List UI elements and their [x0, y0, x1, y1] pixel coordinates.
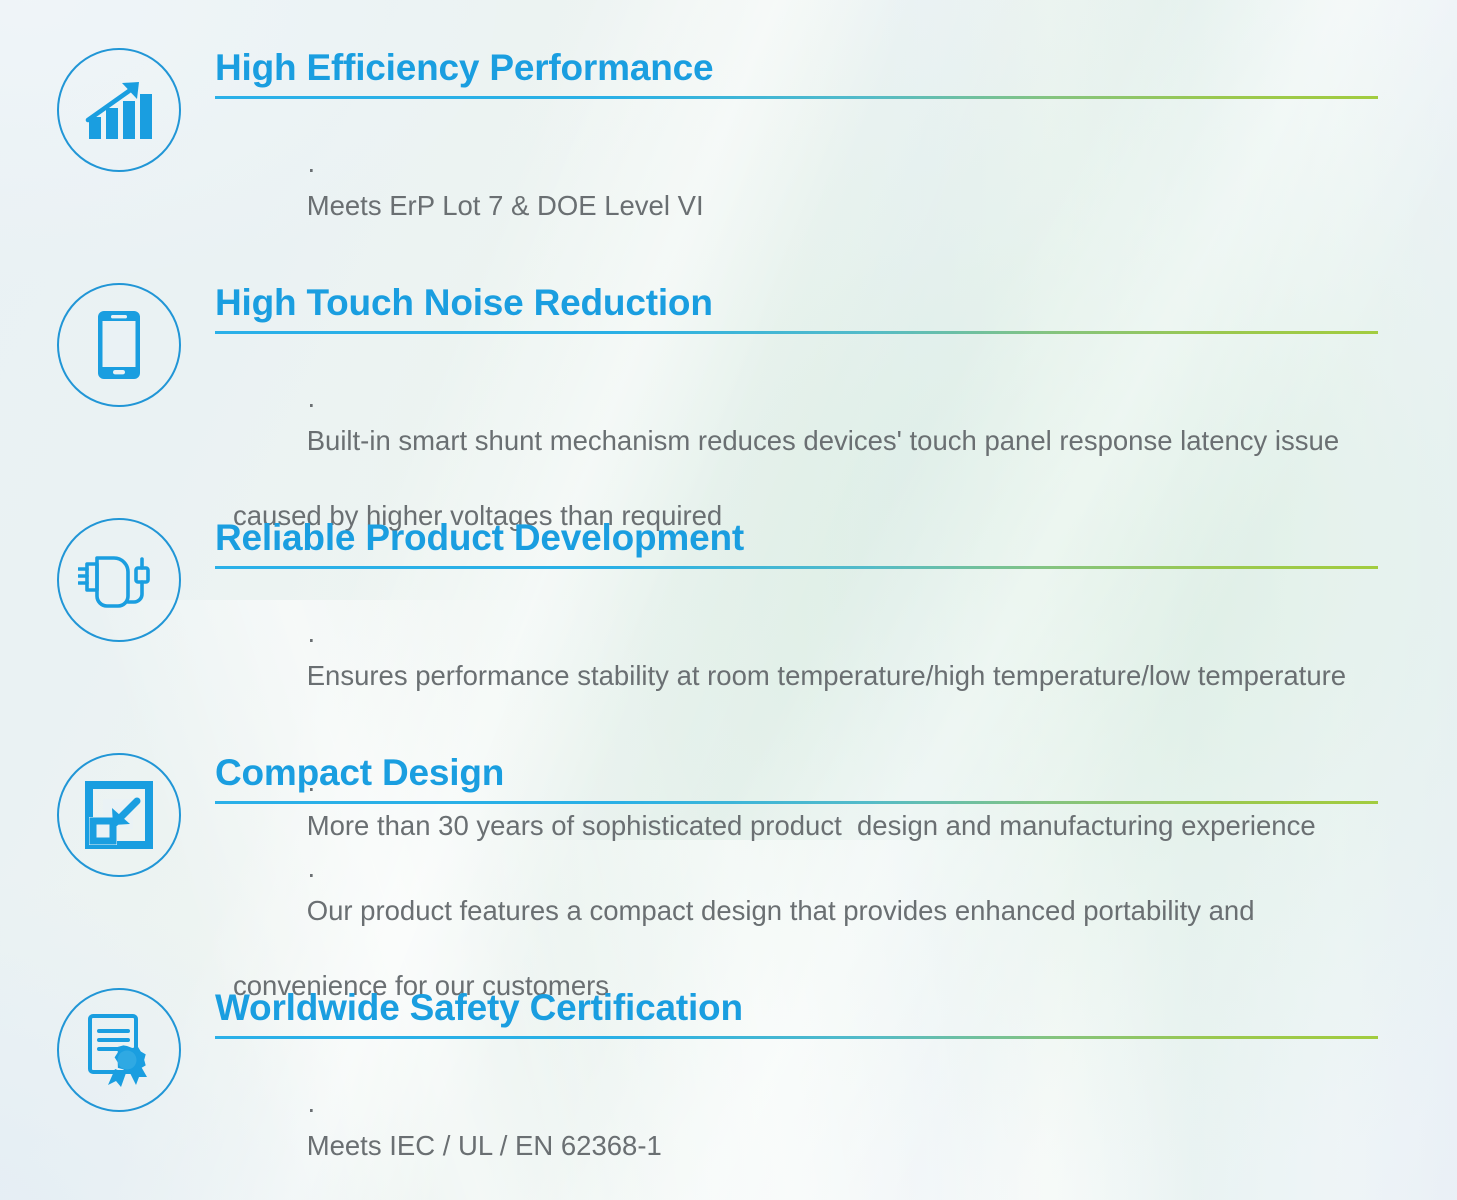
bullet-marker: · — [307, 153, 316, 184]
feature-icon-wrap — [57, 988, 181, 1112]
bullet-text: Our product features a compact design th… — [307, 895, 1255, 926]
feature-divider — [215, 331, 1378, 334]
feature-title: High Efficiency Performance — [215, 48, 1378, 87]
bullet-marker: · — [307, 858, 316, 889]
feature-title: Worldwide Safety Certification — [215, 988, 1378, 1027]
bullet-item: · Meets IEC / UL / EN 62368-1 — [215, 1052, 1378, 1200]
feature-bullets: · Meets IEC / UL / EN 62368-1 — [215, 1052, 1378, 1200]
feature-icon-wrap — [57, 48, 181, 172]
feature-title: Compact Design — [215, 753, 1378, 792]
feature-icon-wrap — [57, 518, 181, 642]
feature-body: High Efficiency Performance · Meets ErP … — [215, 48, 1378, 262]
feature-divider — [215, 801, 1378, 804]
bullet-text: Meets ErP Lot 7 & DOE Level VI — [307, 190, 704, 221]
feature-bullets: · Meets ErP Lot 7 & DOE Level VI — [215, 112, 1378, 262]
bullet-text: Built-in smart shunt mechanism reduces d… — [307, 425, 1339, 456]
compact-resize-icon — [57, 753, 181, 877]
bullet-text: Meets IEC / UL / EN 62368-1 — [307, 1130, 662, 1161]
smartphone-icon — [57, 283, 181, 407]
bullet-marker: · — [307, 1093, 316, 1124]
feature-divider — [215, 96, 1378, 99]
feature-list: High Efficiency Performance · Meets ErP … — [0, 0, 1457, 1200]
bullet-text: Ensures performance stability at room te… — [307, 660, 1346, 691]
feature-body: Worldwide Safety Certification · Meets I… — [215, 988, 1378, 1200]
power-adapter-icon — [57, 518, 181, 642]
certificate-seal-icon — [57, 988, 181, 1112]
feature-divider — [215, 566, 1378, 569]
feature-icon-wrap — [57, 283, 181, 407]
bullet-marker: · — [307, 623, 316, 654]
feature-list-page: High Efficiency Performance · Meets ErP … — [0, 0, 1457, 1200]
bullet-item: · Ensures performance stability at room … — [215, 582, 1378, 732]
bullet-marker: · — [307, 388, 316, 419]
bullet-item: · Meets ErP Lot 7 & DOE Level VI — [215, 112, 1378, 262]
feature-title: High Touch Noise Reduction — [215, 283, 1378, 322]
feature-icon-wrap — [57, 753, 181, 877]
feature-title: Reliable Product Development — [215, 518, 1378, 557]
growth-chart-icon — [57, 48, 181, 172]
feature-divider — [215, 1036, 1378, 1039]
